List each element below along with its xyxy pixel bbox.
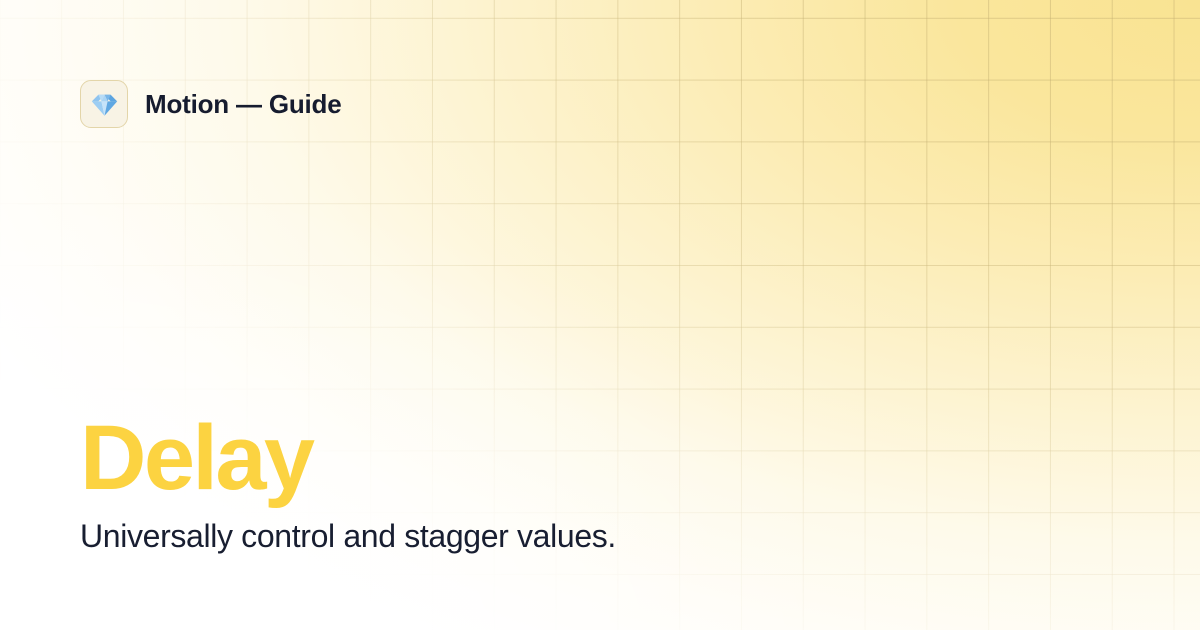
og-card: Motion — Guide Delay Universally control… bbox=[0, 0, 1200, 630]
card-content: Motion — Guide Delay Universally control… bbox=[0, 0, 1200, 630]
page-title: Delay bbox=[80, 412, 616, 504]
gem-stone-icon bbox=[80, 80, 128, 128]
hero-text-block: Delay Universally control and stagger va… bbox=[80, 412, 616, 556]
brand-title: Motion — Guide bbox=[145, 91, 342, 117]
page-subtitle: Universally control and stagger values. bbox=[80, 518, 616, 556]
brand-header: Motion — Guide bbox=[80, 80, 342, 128]
